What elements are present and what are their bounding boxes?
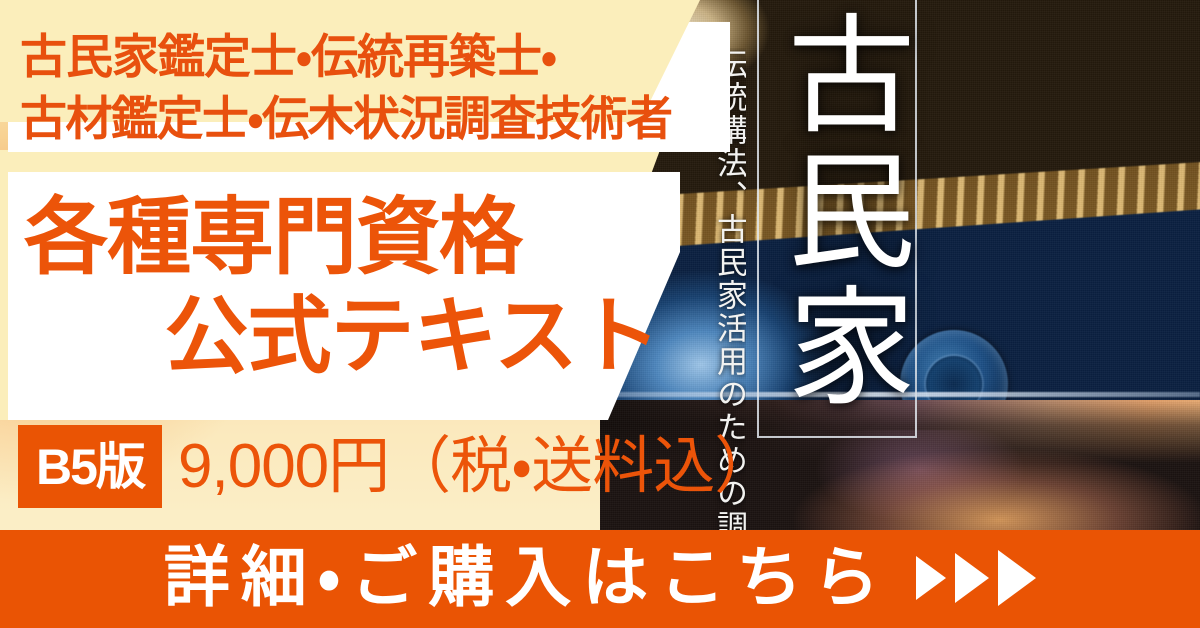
size-badge: B5版	[18, 425, 162, 508]
triangle-right-icon	[955, 553, 989, 603]
page-title-line-1: 各種専門資格	[20, 188, 680, 287]
cta-arrows	[916, 550, 1036, 606]
qualifications-text: 古民家鑑定士・伝統再築士・ 古材鑑定士・伝木状況調査技術者	[20, 26, 720, 150]
qualifications-line-2: 古材鑑定士・伝木状況調査技術者	[20, 88, 720, 150]
page-title-line-2: 公式テキスト	[20, 287, 680, 386]
promo-banner: 伝統構法、古民家活用のための調査と再生の 古民家 古民家鑑定士・伝統再築士・ 古…	[0, 0, 1200, 628]
triangle-right-icon	[998, 550, 1036, 606]
book-cover-title: 古民家	[770, 8, 906, 428]
cta-button[interactable]: 詳細・ご購入はこちら	[0, 530, 1200, 628]
page-title: 各種専門資格 公式テキスト	[20, 188, 680, 386]
price-text: 9,000円（税・送料込）	[178, 424, 775, 510]
qualifications-line-1: 古民家鑑定士・伝統再築士・	[20, 26, 720, 88]
cta-label: 詳細・ご購入はこちら	[164, 544, 890, 610]
triangle-right-icon	[916, 556, 946, 600]
